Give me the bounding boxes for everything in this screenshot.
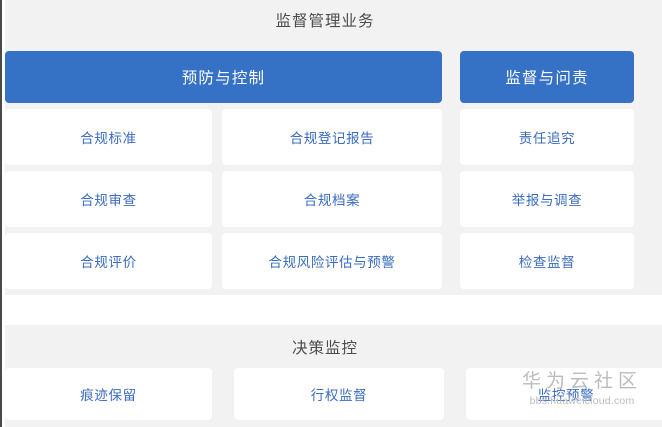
card-report-and-investigation[interactable]: 举报与调查 xyxy=(460,171,634,227)
card-compliance-standard[interactable]: 合规标准 xyxy=(5,109,212,165)
section-decision-monitoring-title: 决策监控 xyxy=(5,341,645,359)
card-compliance-risk-assessment-warning[interactable]: 合规风险评估与预警 xyxy=(222,233,442,289)
app-root: 监督管理业务 预防与控制 合规标准 合规登记报告 合规审查 合规档案 合规评价 … xyxy=(0,0,662,427)
group-prevention-control: 预防与控制 合规标准 合规登记报告 合规审查 合规档案 合规评价 合规风险评估与… xyxy=(5,51,442,289)
card-compliance-evaluation[interactable]: 合规评价 xyxy=(5,233,212,289)
card-power-exercise-supervision[interactable]: 行权监督 xyxy=(234,368,444,420)
section-decision-monitoring: 决策监控 痕迹保留 行权监督 监控预警 xyxy=(5,325,662,427)
card-grid-prevention-control: 合规标准 合规登记报告 合规审查 合规档案 合规评价 合规风险评估与预警 xyxy=(5,109,442,289)
card-compliance-archive[interactable]: 合规档案 xyxy=(222,171,442,227)
section-supervision: 监督管理业务 预防与控制 合规标准 合规登记报告 合规审查 合规档案 合规评价 … xyxy=(5,0,662,295)
card-grid-decision-monitoring: 痕迹保留 行权监督 监控预警 xyxy=(5,368,662,420)
card-compliance-review[interactable]: 合规审查 xyxy=(5,171,212,227)
group-header-prevention-control[interactable]: 预防与控制 xyxy=(5,51,442,103)
card-inspection-supervision[interactable]: 检查监督 xyxy=(460,233,634,289)
group-supervision-accountability: 监督与问责 责任追究 举报与调查 检查监督 xyxy=(460,51,662,289)
card-compliance-registration-report[interactable]: 合规登记报告 xyxy=(222,109,442,165)
group-header-supervision-accountability[interactable]: 监督与问责 xyxy=(460,51,634,103)
card-trace-retention[interactable]: 痕迹保留 xyxy=(5,368,212,420)
section-supervision-title: 监督管理业务 xyxy=(5,14,645,32)
card-grid-supervision-accountability: 责任追究 举报与调查 检查监督 xyxy=(460,109,662,289)
card-monitoring-warning[interactable]: 监控预警 xyxy=(466,368,662,420)
card-responsibility-investigation[interactable]: 责任追究 xyxy=(460,109,634,165)
